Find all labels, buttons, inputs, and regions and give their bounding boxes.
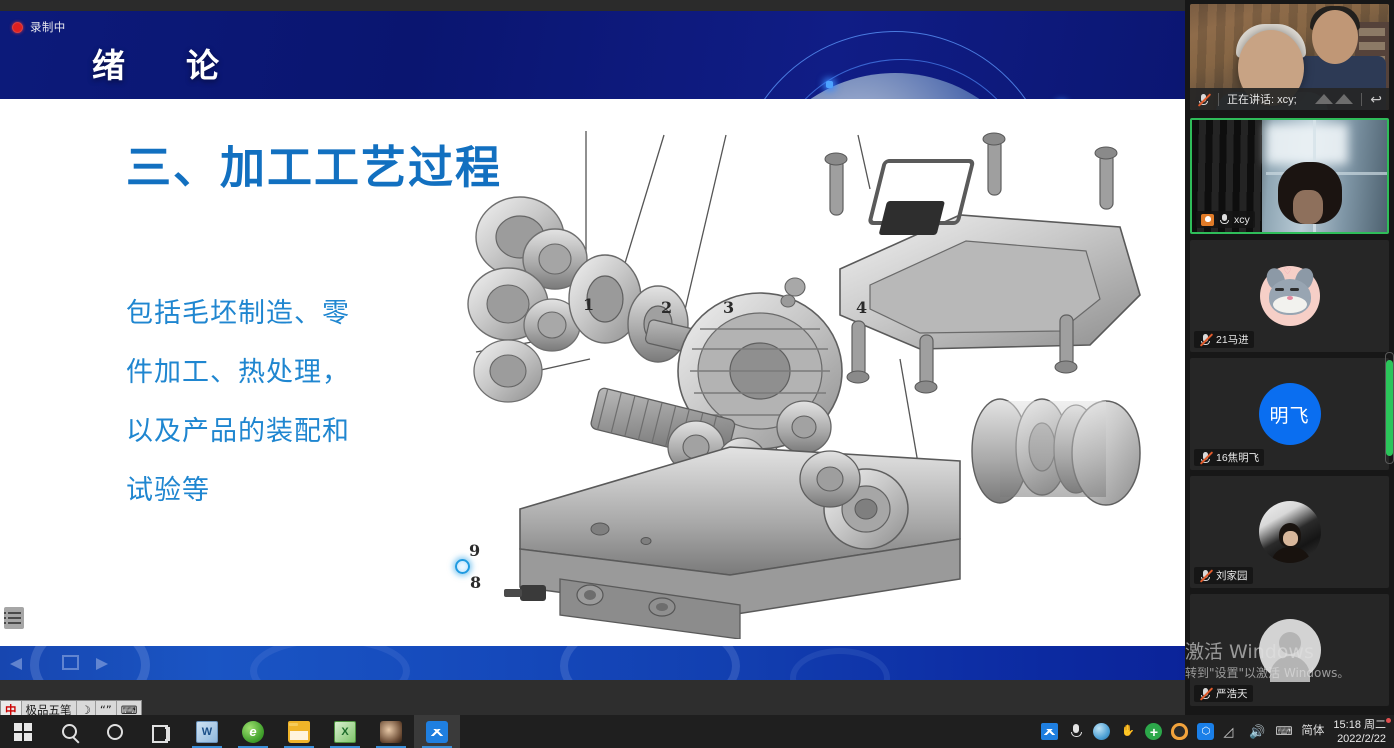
tray-qq-icon[interactable] (1171, 723, 1188, 740)
footer-swirl-3 (560, 646, 740, 680)
start-button[interactable] (0, 715, 46, 748)
mic-muted-icon (1199, 687, 1212, 700)
record-dot-icon (12, 22, 23, 33)
callout-3: 3 (723, 298, 734, 317)
search-button[interactable] (46, 715, 92, 748)
laser-pointer-cursor (455, 559, 470, 574)
tray-meeting-icon[interactable] (1041, 723, 1058, 740)
avatar-tom-cat: ♡ (1260, 266, 1320, 326)
taskbar-app-word[interactable] (184, 715, 230, 748)
participant-tile-speaker[interactable]: 正在讲话: xcy; ↩ (1190, 4, 1389, 110)
task-view-button[interactable] (138, 715, 184, 748)
slide-paragraph: 包括毛坯制造、零件加工、热处理，以及产品的装配和试验等 (126, 284, 376, 520)
footer-swirl-1 (30, 646, 150, 680)
taskbar-app-browser[interactable] (230, 715, 276, 748)
tray-wifi-icon[interactable]: ◿ (1223, 723, 1240, 740)
tray-language-label[interactable]: 简体 (1301, 723, 1324, 740)
search-icon (62, 724, 77, 739)
participant-name: 21马进 (1216, 332, 1249, 347)
callout-8: 8 (470, 573, 481, 592)
avatar-default (1259, 619, 1321, 681)
task-view-icon (152, 725, 170, 739)
tray-bluetooth-icon[interactable] (1197, 723, 1214, 740)
footer-box-icon (62, 655, 79, 670)
orbit-node-left (826, 81, 833, 88)
tray-gesture-icon[interactable]: ✋ (1119, 723, 1136, 740)
participant-tile-mingfei[interactable]: 明飞 16焦明飞 (1190, 358, 1389, 470)
excel-icon (334, 721, 356, 743)
word-icon (196, 721, 218, 743)
callout-9: 9 (469, 541, 480, 560)
gearbox-exploded-diagram (400, 109, 1175, 639)
participant-name: xcy (1234, 214, 1250, 226)
browser-icon (242, 721, 264, 743)
mic-muted-icon (1199, 451, 1212, 464)
tray-security-icon[interactable] (1145, 723, 1162, 740)
meeting-app-icon (426, 721, 448, 743)
camera-on-icon (1201, 214, 1214, 226)
footer-swirl-4 (790, 648, 890, 680)
return-arrow-icon[interactable]: ↩ (1370, 92, 1382, 106)
slide-menu-button[interactable] (4, 607, 24, 629)
clock-date: 2022/2/22 (1337, 733, 1386, 745)
avatar-initial: 明飞 (1259, 383, 1321, 445)
cortana-icon (107, 724, 123, 740)
toolbar-divider (1218, 93, 1219, 106)
taskbar-app-photos[interactable] (368, 715, 414, 748)
speaking-status-label: 正在讲话: xcy; (1227, 91, 1297, 107)
rail-scrollbar-thumb[interactable] (1386, 360, 1393, 456)
participant-tile-yanhaotian[interactable]: 严浩天 (1190, 594, 1389, 706)
tray-volume-icon[interactable]: 🔊 (1249, 723, 1266, 740)
callout-2: 2 (661, 298, 672, 317)
stage-bottom-filler (0, 680, 1185, 715)
tray-network-globe-icon[interactable] (1093, 723, 1110, 740)
avatar-photo (1259, 501, 1321, 563)
recording-label: 录制中 (30, 19, 66, 35)
windows-logo-icon (14, 723, 32, 741)
participant-name-tag: xcy (1196, 211, 1255, 228)
system-tray[interactable]: ✋ ◿ 🔊 ⌨ 简体 15:18 周二 2022/2/22 (1041, 718, 1394, 746)
slide-header-title: 绪 论 (92, 39, 233, 87)
file-explorer-icon (288, 721, 310, 743)
photos-icon (380, 721, 402, 743)
tray-keyboard-icon[interactable]: ⌨ (1275, 723, 1292, 740)
mic-muted-icon (1199, 333, 1212, 346)
slide-body: 三、加工工艺过程 包括毛坯制造、零件加工、热处理，以及产品的装配和试验等 (0, 99, 1185, 646)
callout-1: 1 (583, 295, 594, 314)
clock-time: 15:18 周二 (1333, 719, 1386, 731)
footer-swirl-2 (250, 646, 410, 680)
taskbar[interactable]: ✋ ◿ 🔊 ⌨ 简体 15:18 周二 2022/2/22 (0, 715, 1394, 748)
mic-muted-icon (1199, 569, 1212, 582)
slide-footer-band (0, 646, 1185, 680)
notification-dot[interactable] (1386, 718, 1391, 723)
tray-microphone-icon[interactable] (1067, 723, 1084, 740)
participant-tile-xcy[interactable]: xcy (1190, 118, 1389, 234)
participant-name: 16焦明飞 (1216, 450, 1259, 465)
toolbar-divider-2 (1361, 93, 1362, 106)
participant-name-tag: 21马进 (1194, 331, 1254, 348)
participant-name: 严浩天 (1216, 686, 1248, 701)
participant-tile-majin[interactable]: ♡ 21马进 (1190, 240, 1389, 352)
footer-arrow-left-icon (10, 658, 22, 670)
taskbar-app-file-explorer[interactable] (276, 715, 322, 748)
participant-tile-liujiayuan[interactable]: 刘家园 (1190, 476, 1389, 588)
top-strip (0, 0, 1185, 11)
cortana-button[interactable] (92, 715, 138, 748)
slide-header-banner: 录制中 绪 论 (0, 11, 1185, 99)
clock[interactable]: 15:18 周二 2022/2/22 (1333, 718, 1388, 746)
footer-arrow-right-icon (96, 658, 108, 670)
participant-name: 刘家园 (1216, 568, 1248, 583)
screen: 录制中 绪 论 三、加工工艺过程 包括毛坯制造、零件加工、热处理，以及产品的装配… (0, 0, 1394, 748)
taskbar-app-excel[interactable] (322, 715, 368, 748)
participant-name-tag: 16焦明飞 (1194, 449, 1264, 466)
callout-4: 4 (856, 298, 867, 317)
participant-name-tag: 刘家园 (1194, 567, 1253, 584)
participant-rail[interactable]: 正在讲话: xcy; ↩ xcy (1185, 0, 1394, 715)
signal-chevrons-icon (1315, 94, 1353, 104)
participant-name-tag: 严浩天 (1194, 685, 1253, 702)
presentation-stage[interactable]: 录制中 绪 论 三、加工工艺过程 包括毛坯制造、零件加工、热处理，以及产品的装配… (0, 11, 1185, 715)
mic-muted-icon[interactable] (1197, 93, 1210, 106)
taskbar-app-meeting[interactable] (414, 715, 460, 748)
recording-indicator: 录制中 (12, 19, 66, 35)
mic-on-icon (1218, 213, 1230, 226)
speaker-toolbar[interactable]: 正在讲话: xcy; ↩ (1190, 88, 1389, 110)
